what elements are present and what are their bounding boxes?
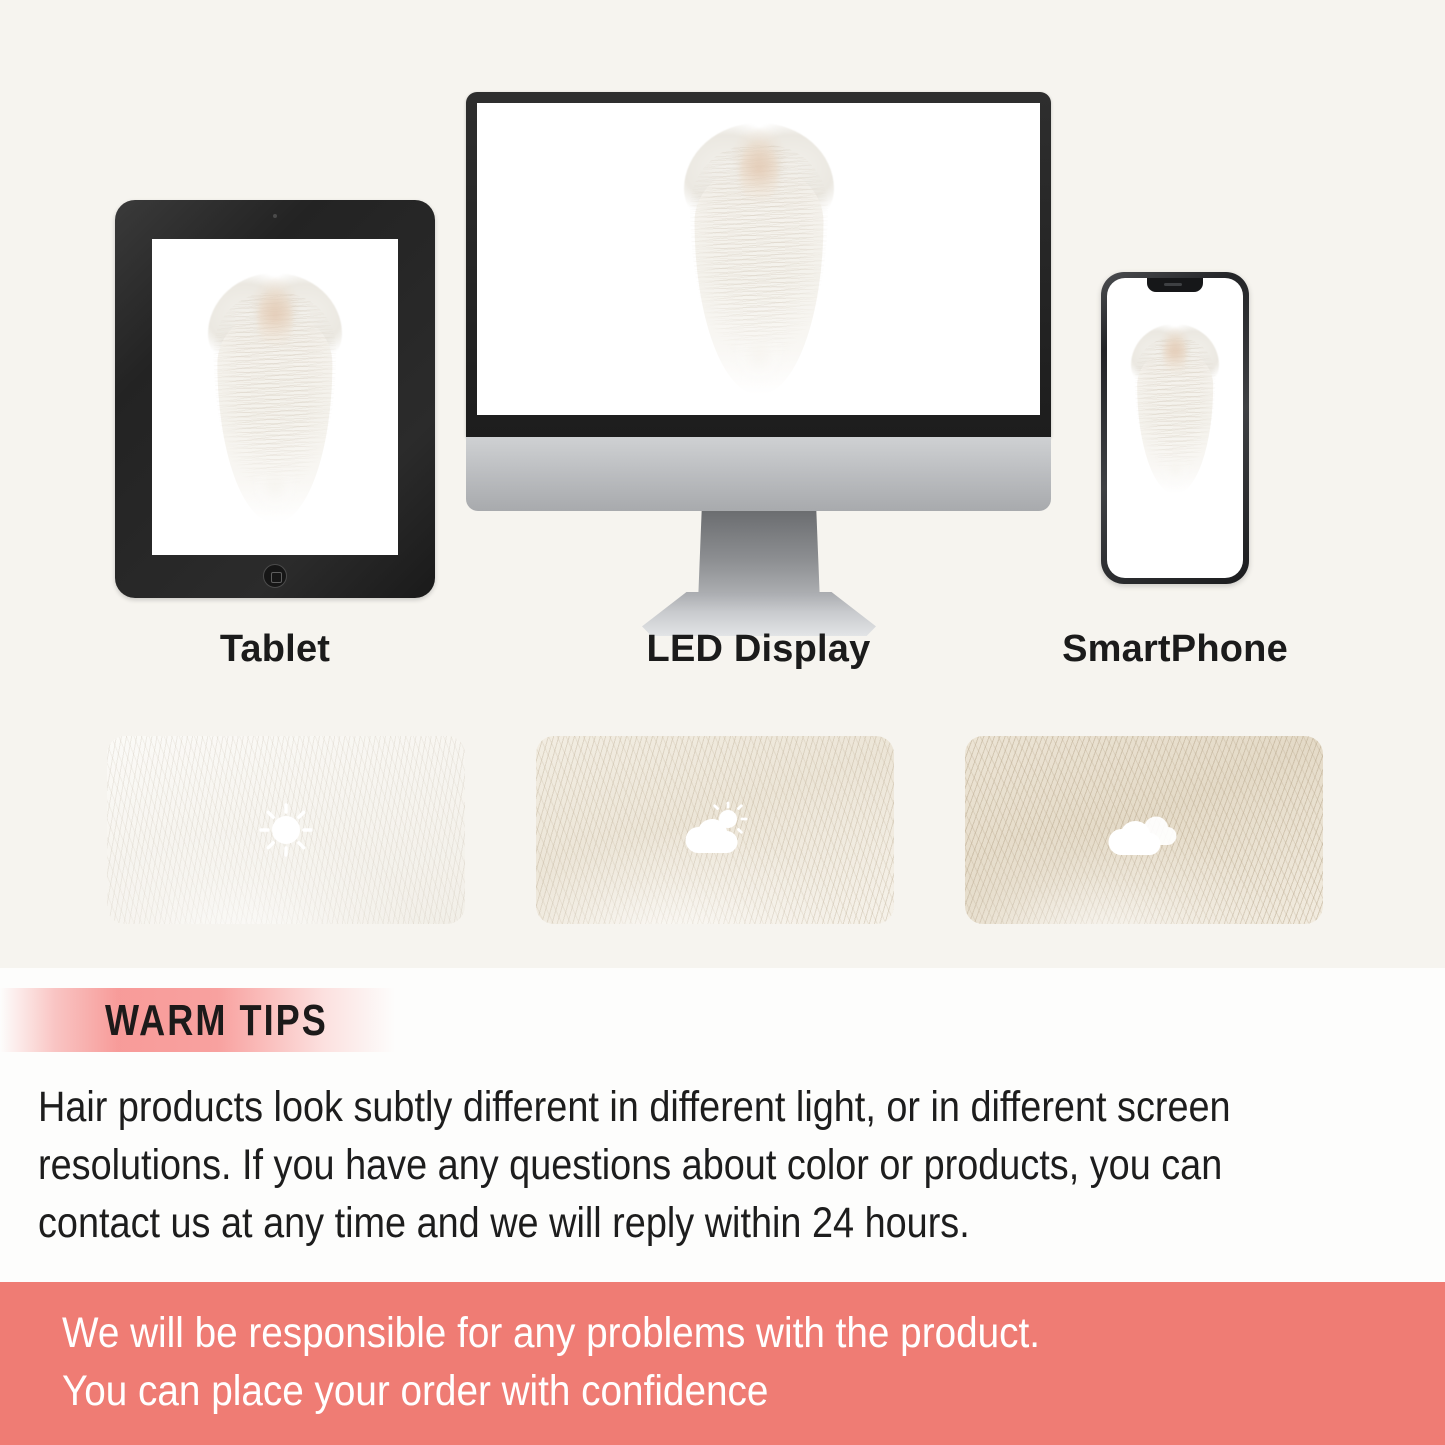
hair-swatch-card-sunny [107,736,465,924]
monitor-screen [477,103,1040,415]
hair-swatch-card-partly-cloudy [536,736,894,924]
monitor-chin-bar [466,437,1051,511]
device-caption-tablet: Tablet [115,628,435,671]
topper-part-icon [258,288,293,353]
sun-cloud-icon [678,801,752,859]
guarantee-line-2: You can place your order with confidence [62,1362,1277,1420]
warm-tips-body-text: Hair products look subtly different in d… [38,1078,1257,1252]
guarantee-banner: We will be responsible for any problems … [0,1282,1445,1445]
sun-icon [249,801,323,859]
topper-tip [732,341,786,401]
tablet-screen [152,239,398,555]
device-showcase-section: Tablet LED Display SmartPhone [0,0,1445,968]
topper-tip [251,473,299,528]
tablet-camera-icon [273,214,277,218]
topper-part-icon [739,139,778,210]
guarantee-line-1: We will be responsible for any problems … [62,1304,1277,1362]
product-image-monitor [684,123,834,395]
warm-tips-section: WARM TIPS Hair products look subtly diff… [0,968,1445,1282]
smartphone-speaker-icon [1164,283,1182,286]
hair-swatch-card-cloudy [965,736,1323,924]
guarantee-banner-text: We will be responsible for any problems … [62,1304,1277,1420]
product-image-tablet [208,273,342,523]
monitor-bezel [466,92,1051,437]
device-caption-led-display: LED Display [466,628,1051,671]
tablet-device [115,200,435,598]
smartphone-device [1101,272,1249,584]
device-caption-smartphone: SmartPhone [1021,628,1329,671]
topper-part-icon [1164,334,1187,378]
topper-tip [1159,460,1191,497]
product-image-smartphone [1131,324,1219,494]
smartphone-screen [1107,278,1243,578]
warm-tips-title: WARM TIPS [105,996,328,1046]
monitor-stand-neck [698,511,820,603]
tablet-home-button-icon [263,564,287,588]
clouds-icon [1107,801,1181,859]
